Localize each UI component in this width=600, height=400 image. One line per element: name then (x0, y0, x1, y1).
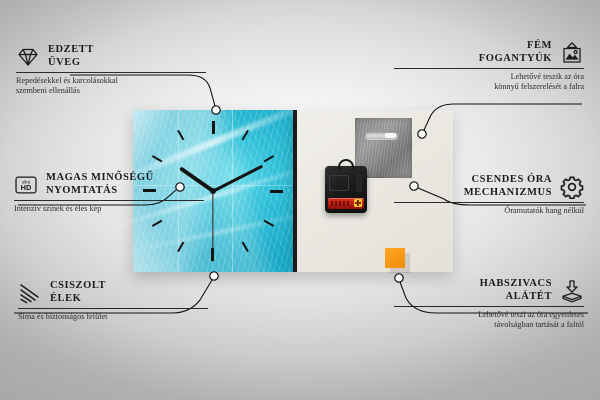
foam-pad-icon (560, 279, 584, 303)
feature-high-quality-print: ultra HD MAGAS MINŐSÉGŰ NYOMTATÁS Intenz… (14, 172, 204, 214)
feature-foam-pad: HABSZIVACS ALÁTÉT Lehetővé teszi az óra … (394, 278, 584, 330)
feature-heading-row: CSENDES ÓRA MECHANIZMUS (394, 174, 584, 199)
feature-heading-row: HABSZIVACS ALÁTÉT (394, 278, 584, 303)
polished-edges-icon (18, 281, 42, 305)
feature-quiet-mechanism: CSENDES ÓRA MECHANIZMUS Óramutatók hang … (394, 174, 584, 216)
gear-icon (560, 175, 584, 199)
feature-description: Lehetővé teszi az óra egyenletes távolsá… (394, 310, 584, 330)
svg-text:HD: HD (21, 183, 32, 192)
divider (14, 200, 204, 201)
feature-description: Repedésekkel és karcolásokkal szembeni e… (16, 76, 206, 96)
feature-tempered-glass: EDZETT ÜVEG Repedésekkel és karcolásokka… (16, 44, 206, 96)
feature-title: CSISZOLT ÉLEK (50, 280, 106, 305)
feature-description: Sima és biztonságos felület (18, 312, 208, 322)
feature-title: FÉM FOGANTYÚK (479, 40, 552, 65)
feature-heading-row: CSISZOLT ÉLEK (18, 280, 208, 305)
feature-title: CSENDES ÓRA MECHANIZMUS (464, 174, 552, 199)
divider (16, 72, 206, 73)
diamond-icon (16, 45, 40, 69)
divider (394, 202, 584, 203)
divider (18, 308, 208, 309)
feature-heading-row: EDZETT ÜVEG (16, 44, 206, 69)
connector-hooks (424, 104, 582, 130)
connector-dot-tempered-glass (212, 106, 220, 114)
feature-heading-row: FÉM FOGANTYÚK (394, 40, 584, 65)
feature-description: Intenzív színek és éles kép (14, 204, 204, 214)
feature-description: Óramutatók hang nélkül (394, 206, 584, 216)
feature-metal-hooks: FÉM FOGANTYÚK Lehetővé teszik az óra kön… (394, 40, 584, 92)
feature-title: HABSZIVACS ALÁTÉT (480, 278, 552, 303)
infographic-canvas: EDZETT ÜVEG Repedésekkel és karcolásokka… (0, 0, 600, 400)
feature-heading-row: ultra HD MAGAS MINŐSÉGŰ NYOMTATÁS (14, 172, 204, 197)
feature-title: MAGAS MINŐSÉGŰ NYOMTATÁS (46, 172, 154, 197)
connector-dot-edges (210, 272, 218, 280)
feature-polished-edges: CSISZOLT ÉLEK Sima és biztonságos felüle… (18, 280, 208, 322)
feature-title: EDZETT ÜVEG (48, 44, 94, 69)
divider (394, 68, 584, 69)
ultra-hd-icon: ultra HD (14, 173, 38, 197)
connector-dot-hooks (418, 130, 426, 138)
divider (394, 306, 584, 307)
feature-description: Lehetővé teszik az óra könnyű felszerelé… (394, 72, 584, 92)
picture-hanger-icon (560, 41, 584, 65)
